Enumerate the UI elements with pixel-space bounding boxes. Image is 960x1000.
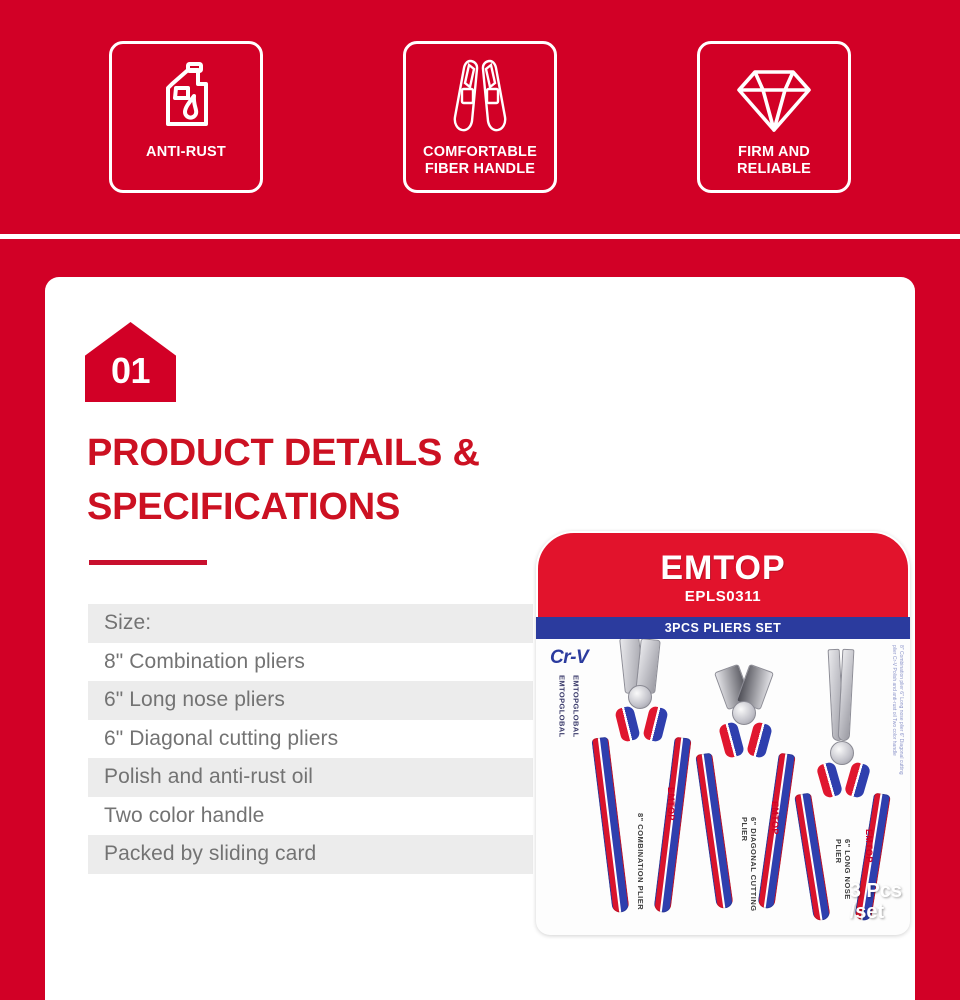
page-title: PRODUCT DETAILS &SPECIFICATIONS	[87, 427, 607, 535]
plier-grip	[718, 721, 745, 759]
handle-brand-label: EMTOP	[770, 801, 780, 835]
blister-package: 8" COMBINATION PLIER EMTOP 6" DIAGONAL C…	[528, 525, 915, 940]
handle-brand-label: EMTOP	[666, 787, 676, 821]
plier-grip	[746, 721, 773, 759]
step-number-badge: 01	[85, 322, 176, 402]
feature-label: FIRM ANDRELIABLE	[737, 144, 811, 178]
plier-grip	[816, 761, 844, 799]
feature-card-fiber-handle: COMFORTABLEFIBER HANDLE	[403, 41, 557, 193]
spec-row: Two color handle	[88, 797, 533, 836]
plier-diagonal-cutting: 6" DIAGONAL CUTTING PLIER EMTOP	[690, 667, 798, 925]
feature-band: ANTI-RUST COMFORTABLEFIBER HANDLE	[0, 0, 960, 234]
package-model-code: EPLS0311	[538, 588, 908, 605]
package-social-handles: EMTOPGLOBALEMTOPGLOBAL	[554, 675, 583, 738]
diamond-icon	[735, 58, 813, 138]
spec-row: 8" Combination pliers	[88, 643, 533, 682]
step-number: 01	[85, 353, 176, 389]
spec-row: Packed by sliding card	[88, 835, 533, 874]
feature-grid: ANTI-RUST COMFORTABLEFIBER HANDLE	[0, 0, 960, 234]
title-underline-rule	[89, 560, 207, 565]
spec-row: Size:	[88, 604, 533, 643]
package-brand-logo: EMTOP	[538, 549, 908, 588]
tool-label: 6" DIAGONAL CUTTING PLIER	[740, 817, 758, 925]
content-card: 01 PRODUCT DETAILS &SPECIFICATIONS Size:…	[45, 277, 915, 1000]
spec-row: 6" Diagonal cutting pliers	[88, 720, 533, 759]
plier-pivot	[732, 701, 756, 725]
handle-brand-label: EMTOP	[864, 829, 874, 863]
band-divider	[0, 234, 960, 239]
material-badge: Cr-V	[550, 647, 588, 669]
specifications-list: Size: 8" Combination pliers 6" Long nose…	[88, 604, 533, 874]
feature-card-firm-reliable: FIRM ANDRELIABLE	[697, 41, 851, 193]
feature-card-anti-rust: ANTI-RUST	[109, 41, 263, 193]
plier-handle	[653, 737, 691, 914]
product-image: 8" COMBINATION PLIER EMTOP 6" DIAGONAL C…	[528, 525, 915, 945]
plier-handles-icon	[443, 58, 517, 138]
plier-pivot	[628, 685, 652, 709]
oil-can-icon	[154, 58, 218, 138]
plier-handle	[794, 792, 831, 921]
tool-label: 8" COMBINATION PLIER	[636, 813, 645, 910]
package-set-label: 3PCS PLIERS SET	[665, 621, 782, 635]
plier-grip	[614, 705, 641, 743]
plier-combination: 8" COMBINATION PLIER EMTOP	[588, 637, 698, 927]
plier-grip	[642, 705, 669, 743]
feature-label: ANTI-RUST	[146, 144, 226, 161]
spec-row: Polish and anti-rust oil	[88, 758, 533, 797]
pcs-per-set-badge: 3 Pcs/set	[850, 881, 902, 922]
package-header: EMTOP EPLS0311	[536, 531, 910, 623]
plier-handle	[695, 753, 734, 910]
package-set-banner: 3PCS PLIERS SET	[536, 617, 910, 639]
spec-row: 6" Long nose pliers	[88, 681, 533, 720]
package-spec-text: 8" Combination plier 6" Long nose plier …	[848, 645, 904, 785]
feature-label: COMFORTABLEFIBER HANDLE	[423, 144, 537, 178]
plier-handle	[591, 737, 629, 914]
